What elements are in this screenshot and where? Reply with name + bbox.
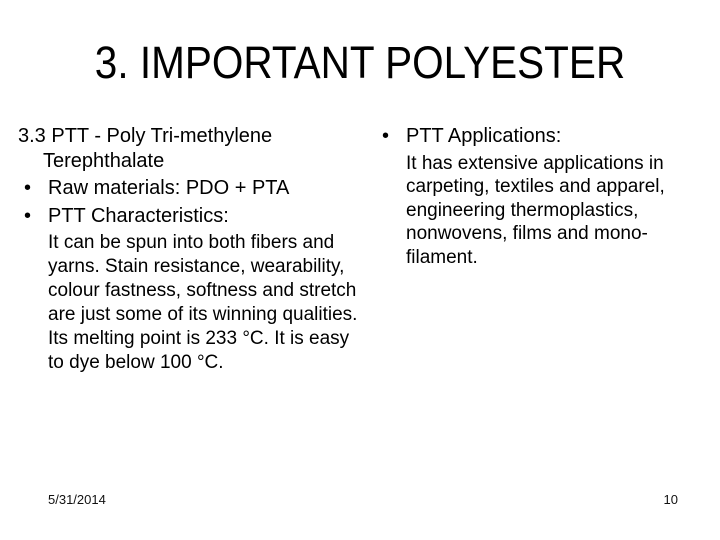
left-heading-line2: Terephthalate xyxy=(23,149,364,174)
left-heading-line1: 3.3 PTT - Poly Tri-methylene xyxy=(18,125,272,147)
left-heading-item: 3.3 PTT - Poly Tri-methylene Terephthala… xyxy=(18,124,364,173)
left-bullet-raw-materials-label: Raw materials: PDO + PTA xyxy=(48,177,289,199)
bullet-dot-icon: • xyxy=(382,124,389,149)
right-bullet-applications-label: PTT Applications: xyxy=(406,125,561,147)
bullet-dot-icon: • xyxy=(24,204,31,229)
left-bullet-characteristics: • PTT Characteristics: xyxy=(18,204,364,229)
bullet-dot-icon: • xyxy=(24,176,31,201)
right-content-column: • PTT Applications: It has extensive app… xyxy=(376,124,712,271)
left-bullet-raw-materials: • Raw materials: PDO + PTA xyxy=(18,176,364,201)
footer-page-number: 10 xyxy=(664,492,678,508)
slide: 3. IMPORTANT POLYESTER 3.3 PTT - Poly Tr… xyxy=(0,0,720,540)
slide-body: 3.3 PTT - Poly Tri-methylene Terephthala… xyxy=(0,124,720,474)
right-bullet-applications: • PTT Applications: xyxy=(376,124,712,149)
left-content-column: 3.3 PTT - Poly Tri-methylene Terephthala… xyxy=(18,124,364,377)
left-characteristics-paragraph: It can be spun into both fibers and yarn… xyxy=(18,231,364,375)
right-applications-paragraph: It has extensive applications in carpeti… xyxy=(376,152,712,270)
left-bullet-characteristics-label: PTT Characteristics: xyxy=(48,205,229,227)
footer-date: 5/31/2014 xyxy=(48,492,106,508)
slide-title: 3. IMPORTANT POLYESTER xyxy=(63,38,657,88)
